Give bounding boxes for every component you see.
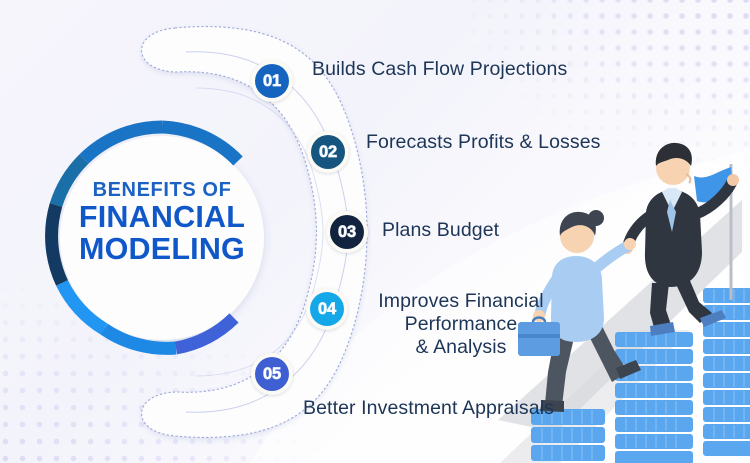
badge-04-number: 04 (318, 300, 336, 319)
item-label-04: Improves Financial Performance & Analysi… (368, 290, 554, 359)
badge-05-number: 05 (263, 365, 281, 384)
badge-03-number: 03 (338, 223, 356, 242)
badge-04[interactable]: 04 (306, 288, 348, 330)
badge-02-inner: 02 (311, 135, 345, 169)
badge-03[interactable]: 03 (326, 211, 368, 253)
coin-stack-2 (615, 332, 693, 463)
badge-02[interactable]: 02 (307, 131, 349, 173)
badge-01-inner: 01 (255, 64, 289, 98)
badge-03-inner: 03 (330, 215, 364, 249)
item-label-01: Builds Cash Flow Projections (312, 58, 567, 81)
badge-04-inner: 04 (310, 292, 344, 326)
infographic-canvas: BENEFITS OF FINANCIAL MODELING (0, 0, 750, 463)
item-label-05: Better Investment Appraisals (303, 397, 554, 420)
item-label-02: Forecasts Profits & Losses (366, 131, 601, 154)
badge-05[interactable]: 05 (251, 353, 293, 395)
badge-01-number: 01 (263, 72, 281, 91)
item-label-03: Plans Budget (382, 219, 499, 242)
badge-05-inner: 05 (255, 357, 289, 391)
badge-01[interactable]: 01 (251, 60, 293, 102)
badge-02-number: 02 (319, 143, 337, 162)
